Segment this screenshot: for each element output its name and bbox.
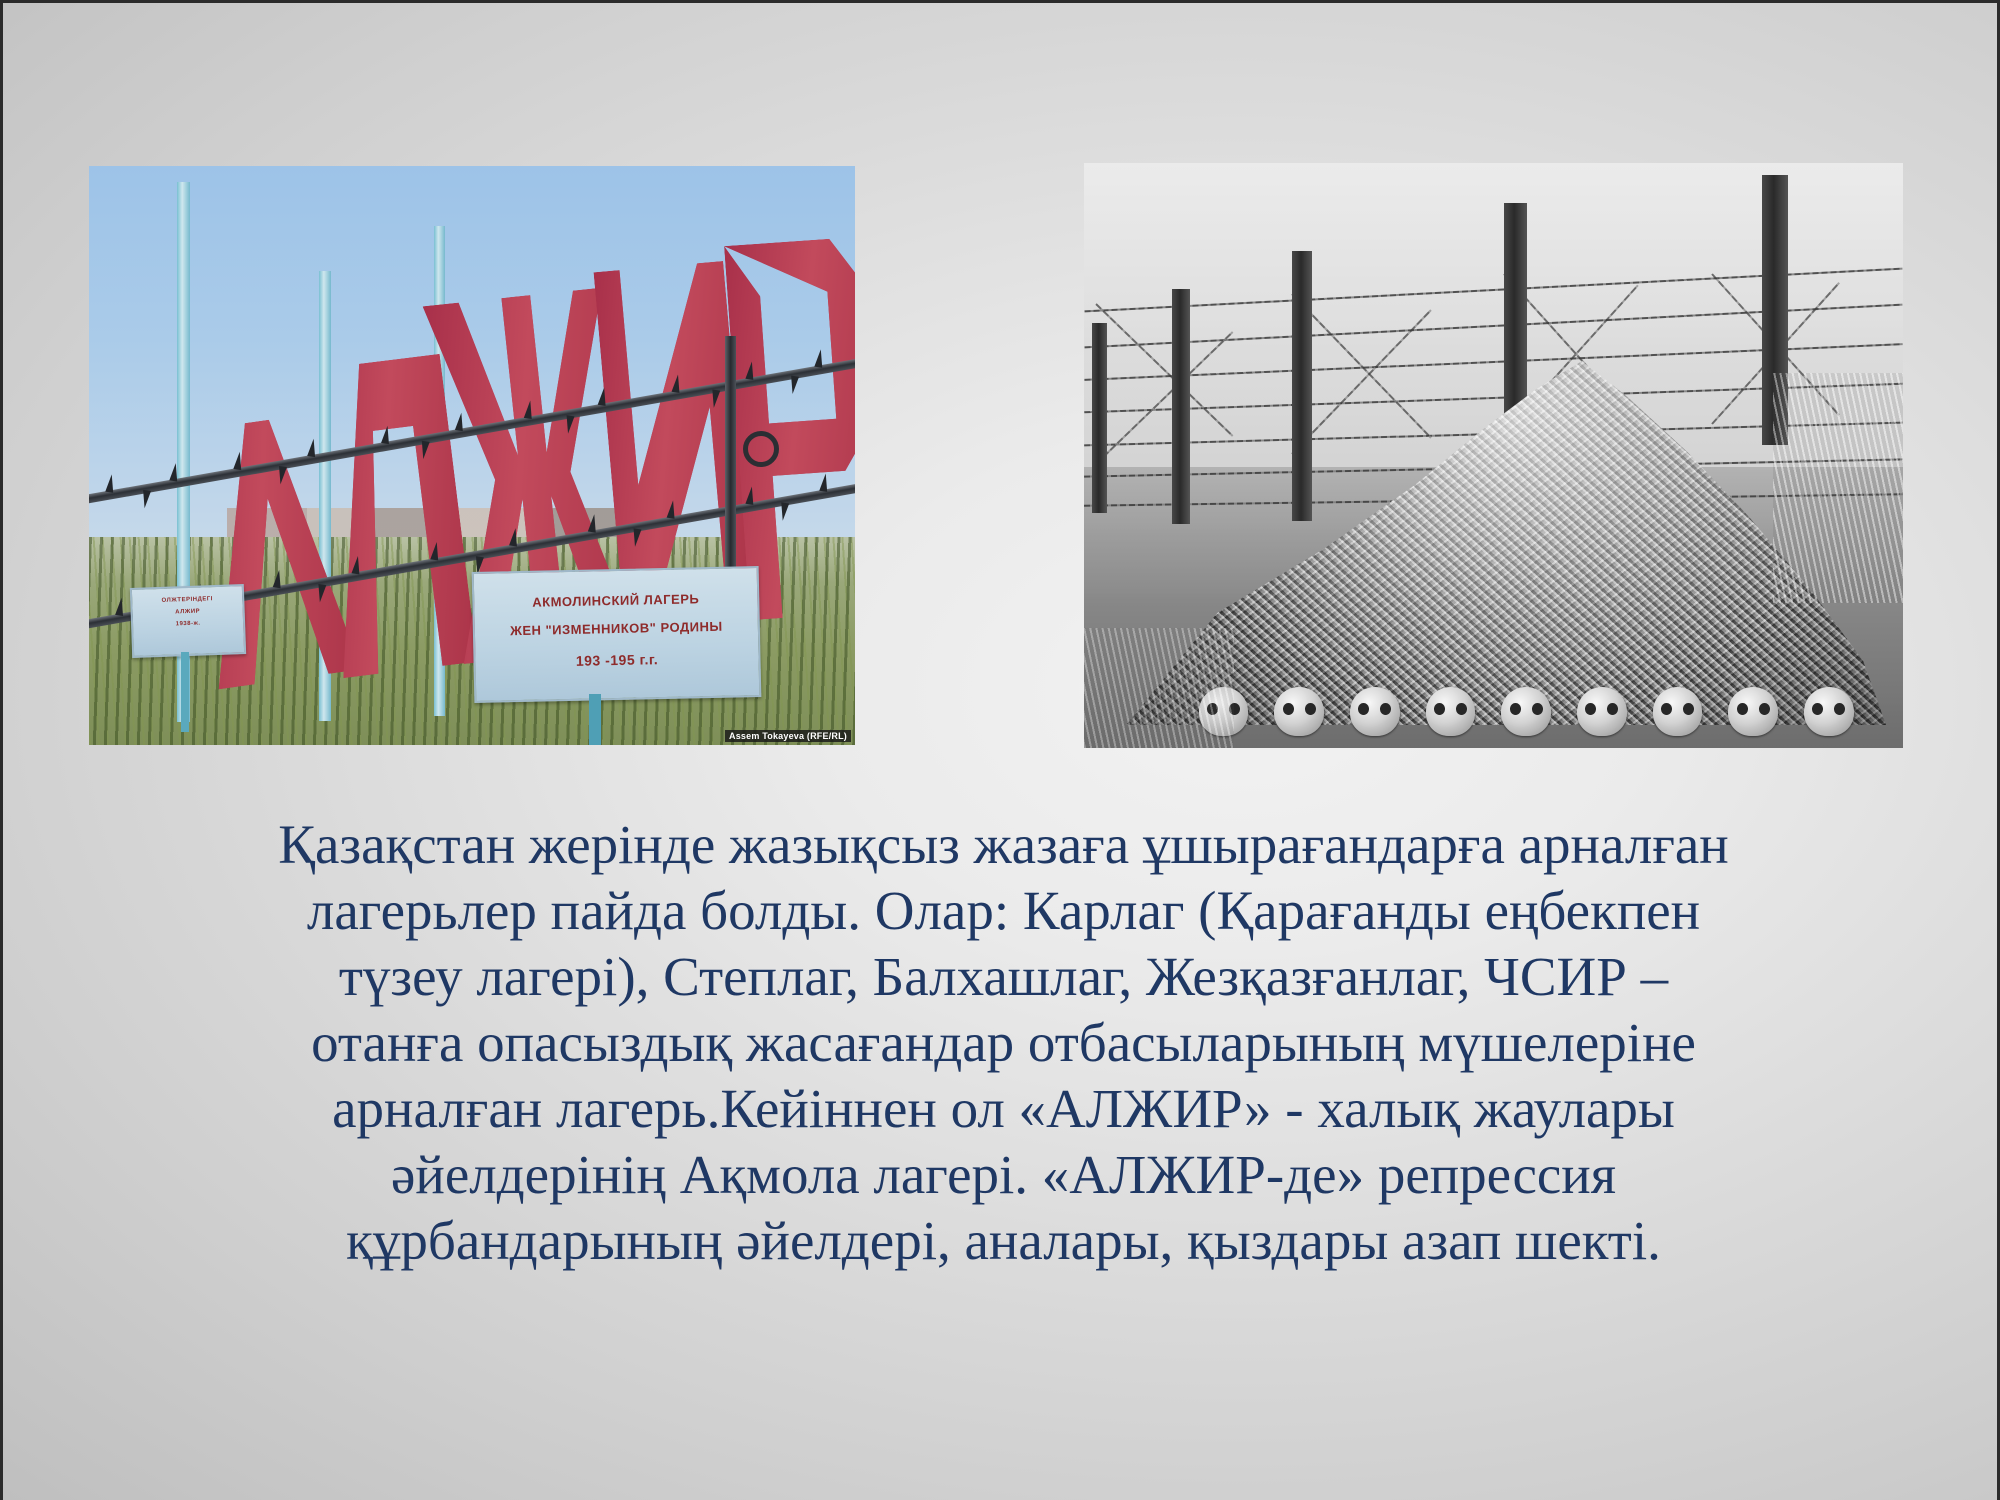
body-line: лагерьлер пайда болды. Олар: Карлаг (Қар… — [96, 878, 1911, 944]
body-line: әйелдерінің Ақмола лагері. «АЛЖИР-де» ре… — [96, 1142, 1911, 1208]
camp-plaque-line2: ЖЕН "ИЗМЕННИКОВ" РОДИНЫ — [475, 618, 758, 639]
alzhir-sign-photo: ОЛЖТЕРІНДЕГІ АЛЖИР 1938-ж. АКМОЛИНСКИЙ Л… — [89, 166, 855, 745]
skull — [1804, 687, 1854, 737]
bones-pile-photo — [1084, 163, 1903, 748]
skull — [1350, 687, 1400, 737]
fence-post — [1292, 251, 1312, 521]
body-line: арналған лагерь.Кейіннен ол «АЛЖИР» - ха… — [96, 1076, 1911, 1142]
body-line: түзеу лагері), Степлаг, Балхашлаг, Жезқа… — [96, 944, 1911, 1010]
camp-plaque-line3: 193 -195 г.г. — [475, 649, 758, 671]
body-line: отанға опасыздық жасағандар отбасыларыны… — [96, 1010, 1911, 1076]
presentation-slide: ОЛЖТЕРІНДЕГІ АЛЖИР 1938-ж. АКМОЛИНСКИЙ Л… — [0, 0, 2000, 1500]
skull — [1426, 687, 1476, 737]
sign-frame-ring — [743, 431, 779, 467]
camp-plaque-line1: АКМОЛИНСКИЙ ЛАГЕРЬ — [474, 590, 757, 611]
small-plaque-line1: ОЛЖТЕРІНДЕГІ — [132, 595, 242, 605]
fence-post — [1172, 289, 1190, 524]
small-plaque-left-leg — [181, 652, 189, 732]
skull-row — [1199, 654, 1854, 736]
dry-grass — [1084, 628, 1234, 748]
photo-watermark: Assem Tokayeva (RFE/RL) — [725, 730, 851, 742]
small-plaque-line2: АЛЖИР — [133, 607, 243, 617]
body-line: құрбандарының әйелдері, аналары, қыздары… — [96, 1208, 1911, 1274]
camp-plaque-leg — [589, 694, 601, 745]
fence-post — [1092, 323, 1107, 513]
skull — [1653, 687, 1703, 737]
slide-body-text: Қазақстан жерінде жазықсыз жазаға ұшырағ… — [96, 812, 1911, 1274]
small-plaque-line3: 1938-ж. — [133, 619, 243, 629]
skull — [1274, 687, 1324, 737]
skull — [1501, 687, 1551, 737]
skull — [1728, 687, 1778, 737]
body-line: Қазақстан жерінде жазықсыз жазаға ұшырағ… — [96, 812, 1911, 878]
skull — [1577, 687, 1627, 737]
camp-plaque: АКМОЛИНСКИЙ ЛАГЕРЬ ЖЕН "ИЗМЕННИКОВ" РОДИ… — [472, 566, 762, 703]
dry-grass — [1773, 373, 1903, 603]
small-plaque-left: ОЛЖТЕРІНДЕГІ АЛЖИР 1938-ж. — [130, 584, 246, 658]
